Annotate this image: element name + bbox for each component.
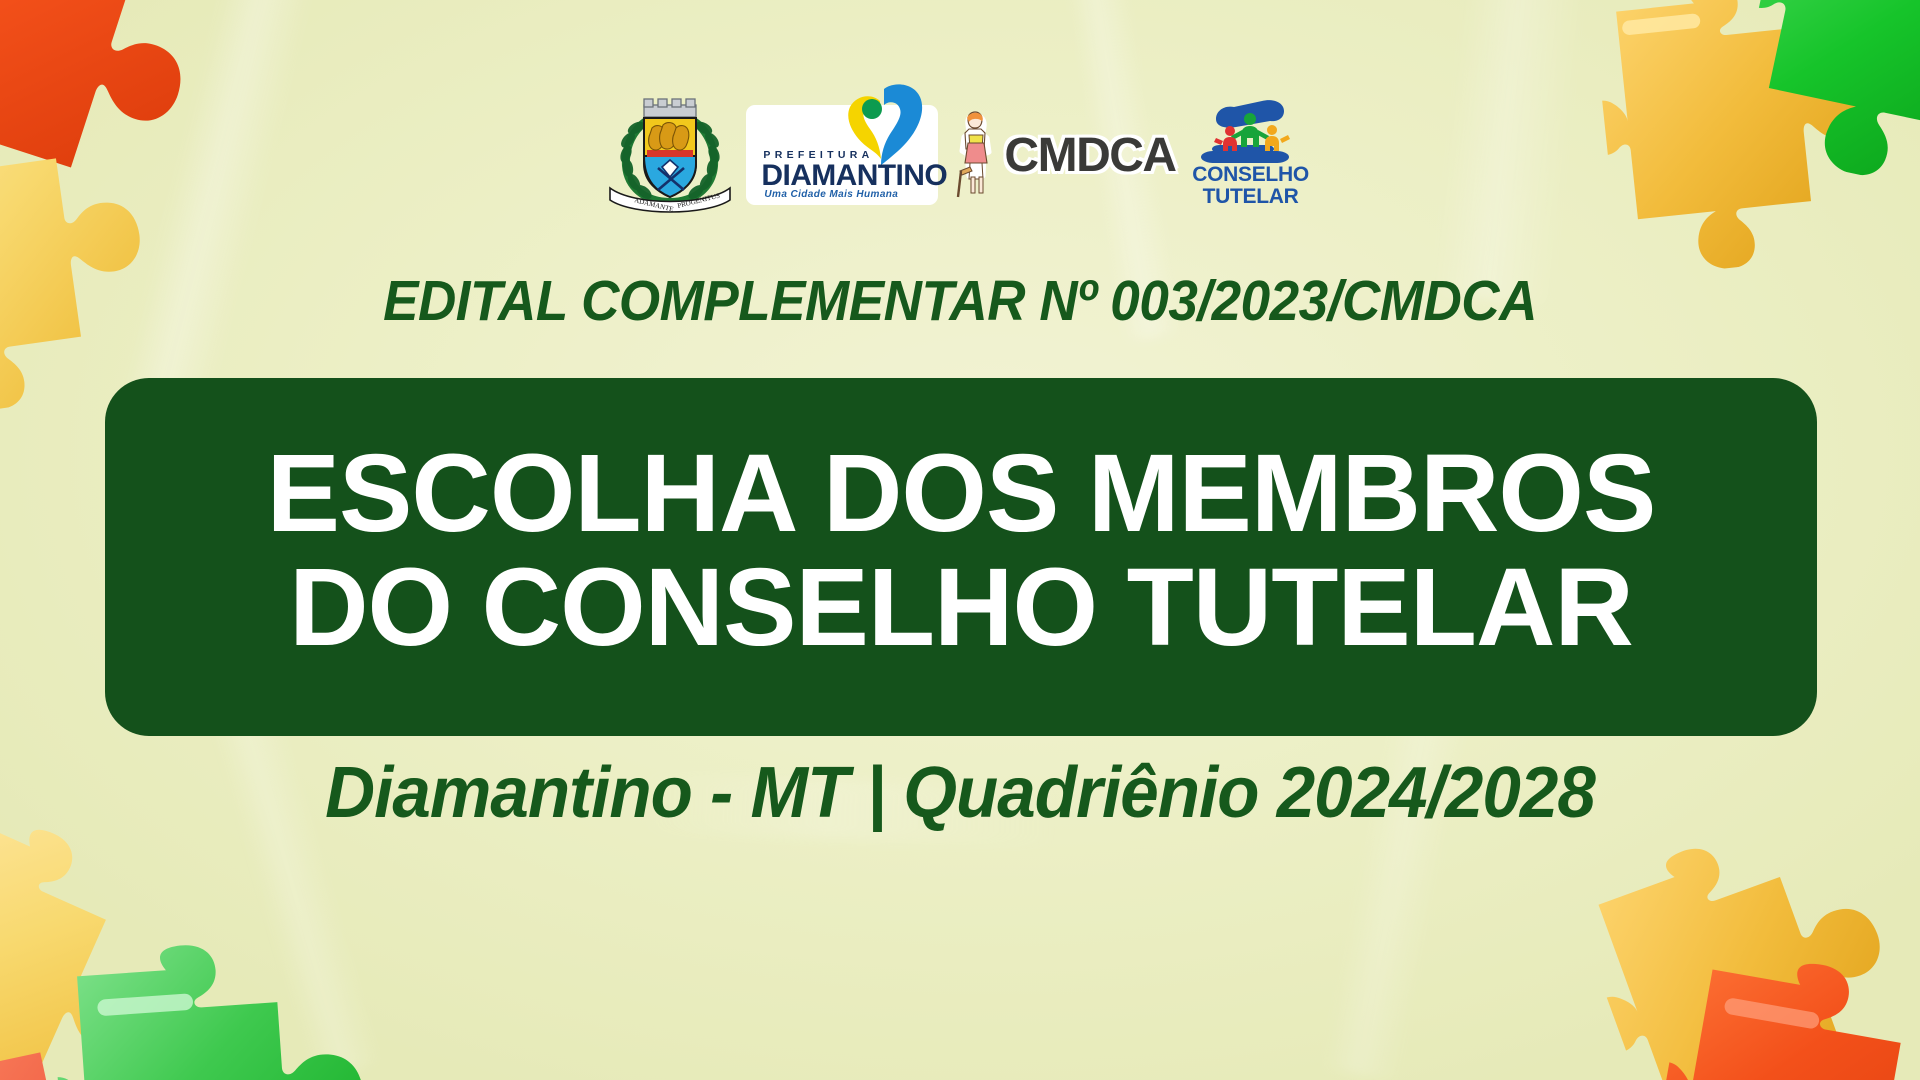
puzzle-piece-bottom-left-green (49, 929, 401, 1080)
poster-canvas: ADAMANTE PROGENITUS PREFEITURA DIAMANTIN… (0, 0, 1920, 1080)
conselho-tutelar-line1: CONSELHO (1186, 163, 1316, 187)
logo-row: ADAMANTE PROGENITUS PREFEITURA DIAMANTIN… (0, 96, 1920, 214)
main-title-line-1: ESCOLHA DOS MEMBROS (267, 437, 1656, 551)
main-title-line-2: DO CONSELHO TUTELAR (289, 551, 1633, 665)
conselho-tutelar-icon (1200, 97, 1300, 163)
edital-number-heading: EDITAL COMPLEMENTAR Nº 003/2023/CMDCA (67, 268, 1853, 334)
conselho-tutelar-logo: CONSELHO TUTELAR (1186, 99, 1316, 211)
brasao-icon: ADAMANTE PROGENITUS (604, 96, 736, 214)
conselho-tutelar-line2: TUTELAR (1186, 185, 1316, 209)
cmdca-logo: CMDCA (954, 96, 1175, 214)
cmdca-child-icon (954, 109, 998, 201)
main-title-box: ESCOLHA DOS MEMBROS DO CONSELHO TUTELAR (105, 378, 1817, 736)
subtitle-location-period: Diamantino - MT | Quadriênio 2024/2028 (38, 752, 1881, 834)
prefeitura-big-label: DIAMANTINO (761, 159, 947, 193)
cmdca-wordmark: CMDCA (1004, 128, 1175, 183)
prefeitura-tagline: Uma Cidade Mais Humana (764, 189, 898, 200)
brasao-diamantino-logo: ADAMANTE PROGENITUS (604, 96, 736, 214)
prefeitura-diamantino-logo: PREFEITURA DIAMANTINO Uma Cidade Mais Hu… (736, 96, 938, 214)
